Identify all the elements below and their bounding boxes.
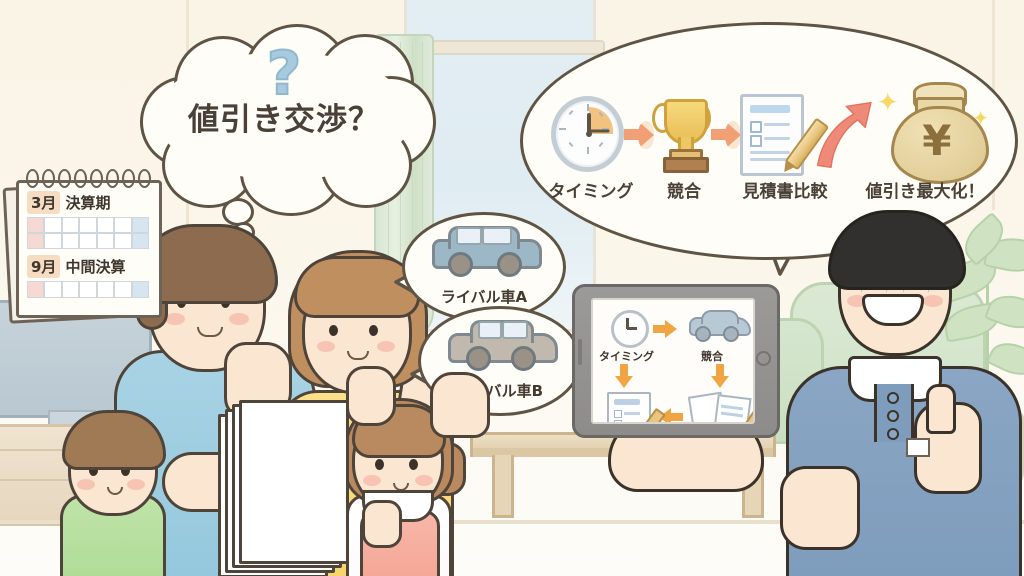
father-mouth	[197, 327, 223, 337]
salesman-name-badge	[906, 438, 930, 457]
negotiation-thought-bubble: ? 値引き交渉？	[140, 30, 428, 202]
tablet-car-icon	[689, 310, 747, 342]
girl-hand-at-mouth	[362, 500, 402, 548]
flow-label-timing: タイミング	[543, 177, 639, 202]
money-bag-yen-icon: ¥	[887, 84, 987, 180]
boy-hair	[62, 410, 166, 470]
tablet-clock-icon	[611, 310, 649, 348]
document-pencil-icon	[740, 94, 804, 176]
salesman-thumb	[926, 384, 956, 434]
yen-symbol: ¥	[887, 120, 987, 162]
tablet-arrow-down-right-icon	[711, 364, 729, 392]
calendar-month-tag: 9月	[27, 255, 60, 278]
rival-car-b-icon	[448, 325, 552, 371]
thought-bubble-text: 値引き交渉？	[140, 94, 428, 139]
calendar-month-tag: 3月	[27, 191, 60, 214]
calendar-grid-top	[27, 217, 149, 249]
calendar-month-label: 決算期	[65, 192, 110, 213]
calendar-grid-bottom	[27, 281, 149, 298]
flow-label-competition: 競合	[653, 177, 715, 202]
calendar-month-label: 中間決算	[65, 256, 125, 277]
illustration-scene: 3月 決算期 9月 中間決算 ?	[0, 0, 1024, 576]
table-leg-left	[492, 455, 514, 518]
boy-mouth	[107, 487, 123, 495]
tablet-arrow-down-left-icon	[615, 364, 633, 392]
rival-car-a-icon	[432, 231, 536, 277]
tablet-screen[interactable]: タイミング 競合	[591, 298, 755, 424]
tablet-volume-button[interactable]	[578, 339, 582, 365]
tablet-stacked-documents-icon	[691, 392, 753, 424]
rival-car-a-label: ライバル車A	[405, 286, 563, 307]
strategy-flow-labels: タイミング 競合 見積書比較 値引き最大化！	[543, 177, 995, 202]
tablet-label-timing: タイミング	[599, 348, 654, 364]
estimate-papers	[218, 400, 346, 576]
flow-label-max-discount: 値引き最大化！	[855, 177, 995, 202]
strategy-flow-icons: ✦ ✦ ¥	[551, 85, 987, 183]
trophy-icon	[652, 97, 711, 171]
rival-car-a-bubble: ライバル車A	[402, 212, 566, 322]
calendar-row-march: 3月 決算期	[27, 191, 110, 214]
arrow-right-icon	[624, 120, 653, 148]
flow-label-quote-compare: 見積書比較	[729, 177, 841, 202]
tablet-document-pencil-icon	[607, 392, 651, 424]
salesman-left-arm	[780, 466, 860, 550]
arrow-right-icon	[711, 120, 740, 148]
clock-icon	[551, 96, 624, 172]
calendar-front-page: 3月 決算期 9月 中間決算	[16, 180, 162, 318]
mother-hand-on-chin	[346, 366, 396, 426]
salesman-tablet[interactable]: タイミング 競合	[572, 284, 780, 438]
mother-mouth	[347, 351, 369, 360]
boy-character	[54, 408, 174, 576]
mother-raised-hand	[430, 372, 490, 438]
thought-dot-large	[222, 198, 254, 226]
tablet-home-button[interactable]	[756, 351, 771, 366]
salesman-hair	[828, 210, 966, 290]
salesman-character	[786, 216, 1024, 576]
calendar-row-september: 9月 中間決算	[27, 255, 125, 278]
fiscal-calendar: 3月 決算期 9月 中間決算	[6, 176, 162, 322]
tablet-arrow-right-icon	[653, 320, 681, 338]
tablet-label-competition: 競合	[701, 348, 723, 364]
arrow-up-curved-icon	[812, 97, 875, 171]
